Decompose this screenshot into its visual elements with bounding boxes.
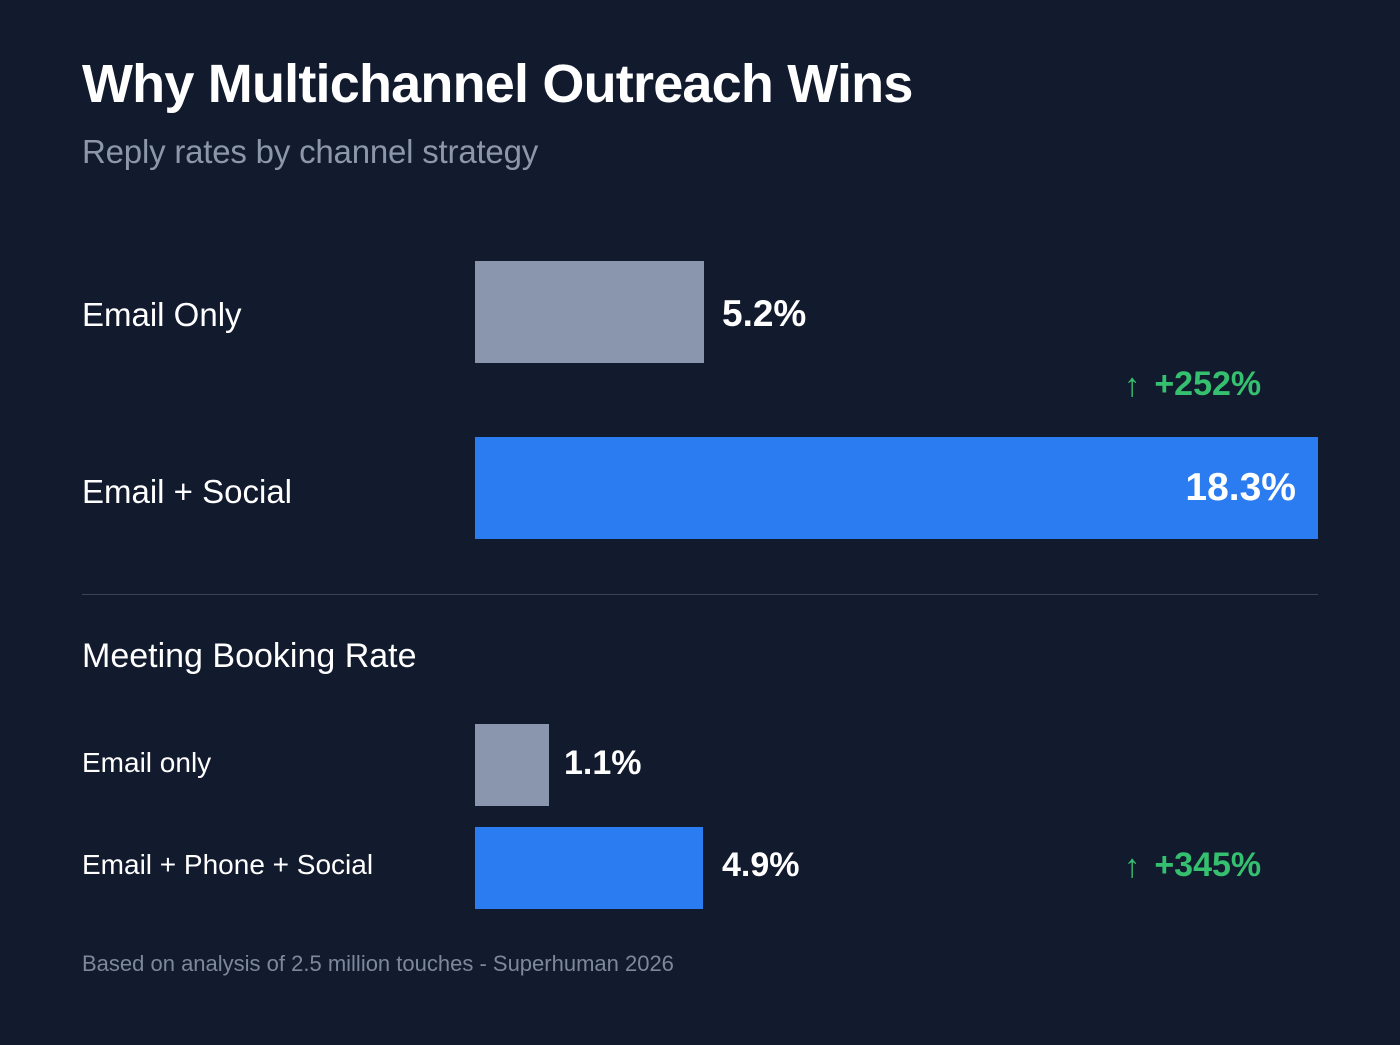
- bar-value-email-only: 5.2%: [722, 293, 806, 335]
- bar-value-email-only-meeting: 1.1%: [564, 744, 642, 783]
- delta-reply-rate-value: +252%: [1154, 365, 1261, 404]
- chart-canvas: Why Multichannel Outreach Wins Reply rat…: [0, 0, 1400, 1045]
- up-arrow-icon: ↑: [1124, 366, 1140, 404]
- bar-email-phone-social[interactable]: [475, 827, 703, 909]
- bar-label-email-phone-social: Email + Phone + Social: [82, 849, 373, 881]
- chart-title: Why Multichannel Outreach Wins: [82, 56, 913, 113]
- chart-header: Why Multichannel Outreach Wins Reply rat…: [82, 56, 913, 171]
- delta-reply-rate: ↑ +252%: [1124, 365, 1261, 404]
- bar-label-email-only: Email Only: [82, 296, 242, 334]
- up-arrow-icon: ↑: [1124, 847, 1140, 885]
- bar-value-email-social: 18.3%: [1185, 466, 1296, 510]
- delta-meeting-rate-value: +345%: [1154, 846, 1261, 885]
- section-divider: [82, 594, 1318, 595]
- delta-meeting-rate: ↑ +345%: [1124, 846, 1261, 885]
- chart-subtitle: Reply rates by channel strategy: [82, 133, 913, 171]
- bar-value-email-phone-social: 4.9%: [722, 846, 800, 885]
- bar-label-email-only-meeting: Email only: [82, 747, 211, 779]
- bar-email-social[interactable]: 18.3%: [475, 437, 1318, 539]
- bar-email-only[interactable]: [475, 261, 704, 363]
- bar-label-email-social: Email + Social: [82, 473, 292, 511]
- section-title-meeting-booking: Meeting Booking Rate: [82, 637, 417, 676]
- bar-email-only-meeting[interactable]: [475, 724, 549, 806]
- chart-footnote: Based on analysis of 2.5 million touches…: [82, 951, 674, 977]
